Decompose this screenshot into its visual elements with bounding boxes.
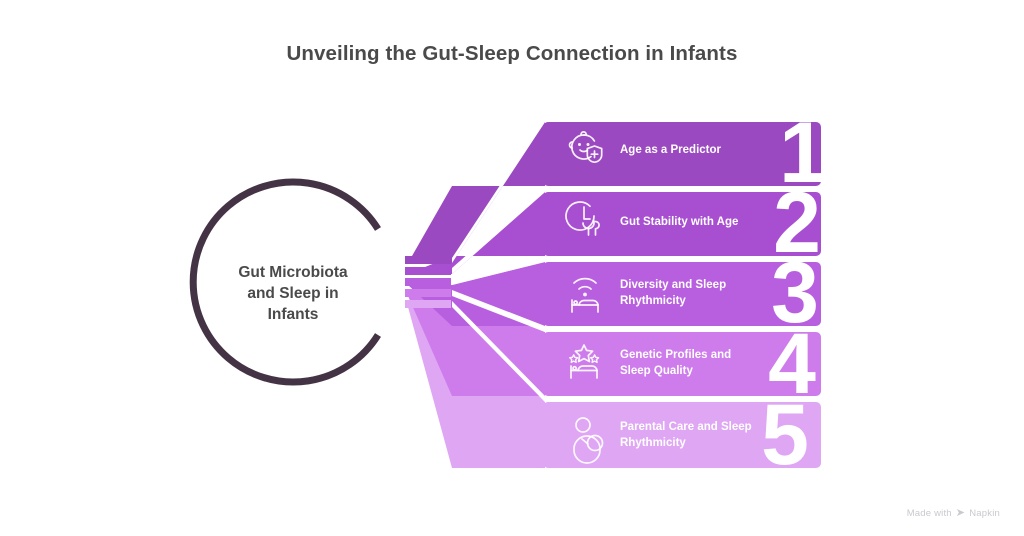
infographic-canvas: Unveiling the Gut-Sleep Connection in In… xyxy=(0,0,1024,536)
hub-label-line-3: Infants xyxy=(268,306,319,323)
hub-circle-group[interactable]: Gut Microbiota and Sleep in Infants xyxy=(193,182,393,382)
connector-stubs xyxy=(405,256,451,308)
row-label-5-line1: Parental Care and Sleep xyxy=(620,421,752,433)
row-label-5-line2: Rhythmicity xyxy=(620,437,686,449)
watermark-brand: Napkin xyxy=(969,508,1000,519)
connector-stub-5 xyxy=(405,300,451,308)
connector-stub-3 xyxy=(405,278,451,286)
hub-label-line-1: Gut Microbiota xyxy=(238,264,348,281)
row-label-3-line1: Diversity and Sleep xyxy=(620,279,726,291)
gut-sleep-diagram: 5 Parental Care and Sleep Rhythmicity 4 xyxy=(0,0,1024,536)
row-label-4-line2: Sleep Quality xyxy=(620,365,693,377)
row-numeral-1: 1 xyxy=(779,105,827,201)
hub-label-line-2: and Sleep in xyxy=(247,285,338,302)
row-label-2-line1: Gut Stability with Age xyxy=(620,216,738,228)
napkin-logo-icon: ➤ xyxy=(956,508,965,519)
connector-stub-1 xyxy=(405,256,451,264)
row-label-3-line2: Rhythmicity xyxy=(620,295,686,307)
watermark-prefix: Made with xyxy=(907,508,952,519)
napkin-watermark: Made with ➤ Napkin xyxy=(907,508,1000,519)
connector-stub-2 xyxy=(405,267,451,275)
connector-stub-4 xyxy=(405,289,451,297)
row-label-1-line1: Age as a Predictor xyxy=(620,144,722,156)
row-label-4-line1: Genetic Profiles and xyxy=(620,349,731,361)
